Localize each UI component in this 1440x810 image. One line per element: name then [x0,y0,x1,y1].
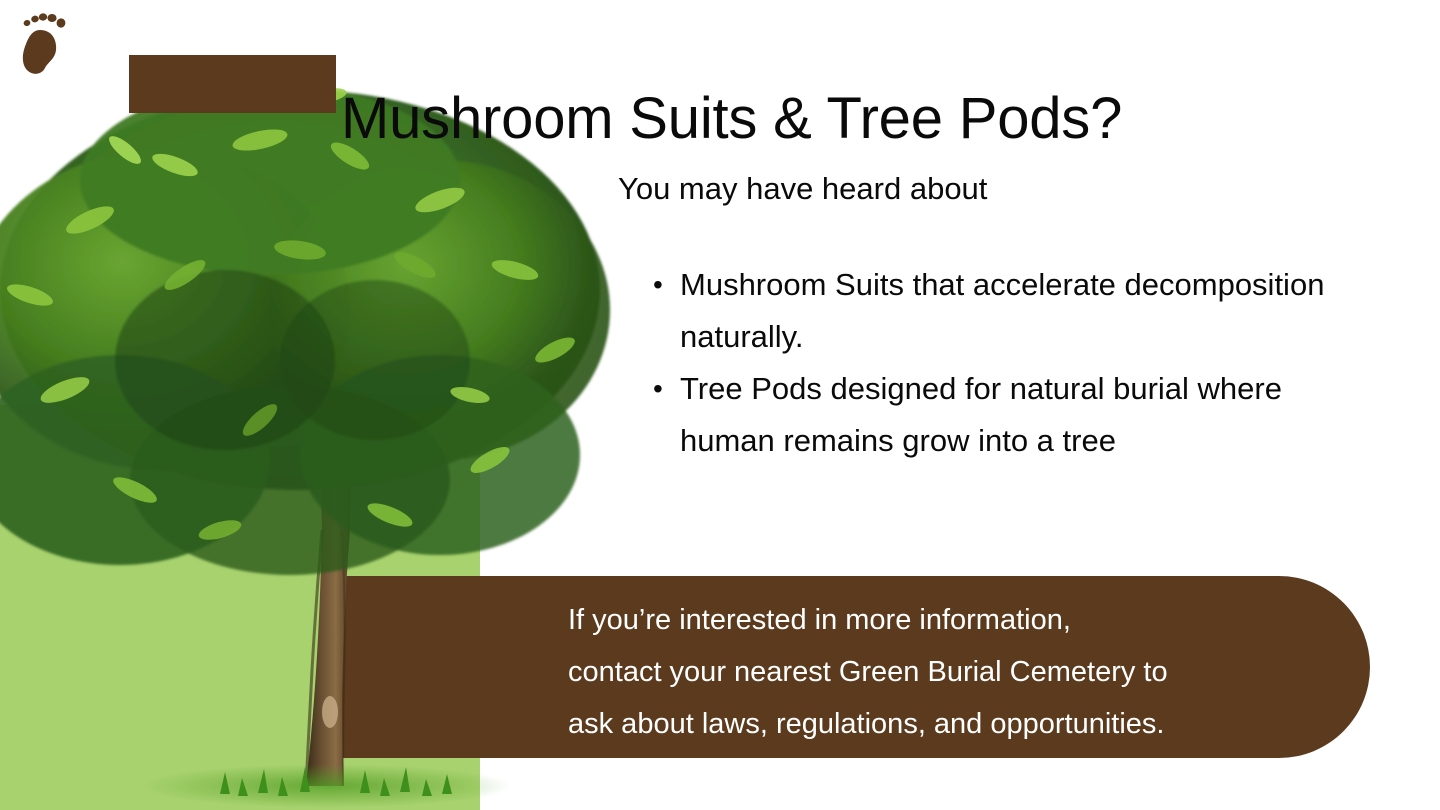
slide-canvas: Mushroom Suits & Tree Pods? You may have… [0,0,1440,810]
bullet-list: Mushroom Suits that accelerate decomposi… [618,259,1338,467]
callout-text: If you’re interested in more information… [568,594,1358,750]
list-item: Mushroom Suits that accelerate decomposi… [680,259,1338,363]
callout-line-3: ask about laws, regulations, and opportu… [568,698,1358,750]
footprint-icon [12,6,70,78]
page-title: Mushroom Suits & Tree Pods? [341,85,1122,153]
list-item: Tree Pods designed for natural burial wh… [680,363,1338,467]
callout-line-2: contact your nearest Green Burial Cemete… [568,646,1358,698]
lead-paragraph: You may have heard about [618,163,1338,215]
body-content: You may have heard about Mushroom Suits … [618,163,1338,467]
title-accent-bar [129,55,336,113]
callout-line-1: If you’re interested in more information… [568,594,1358,646]
